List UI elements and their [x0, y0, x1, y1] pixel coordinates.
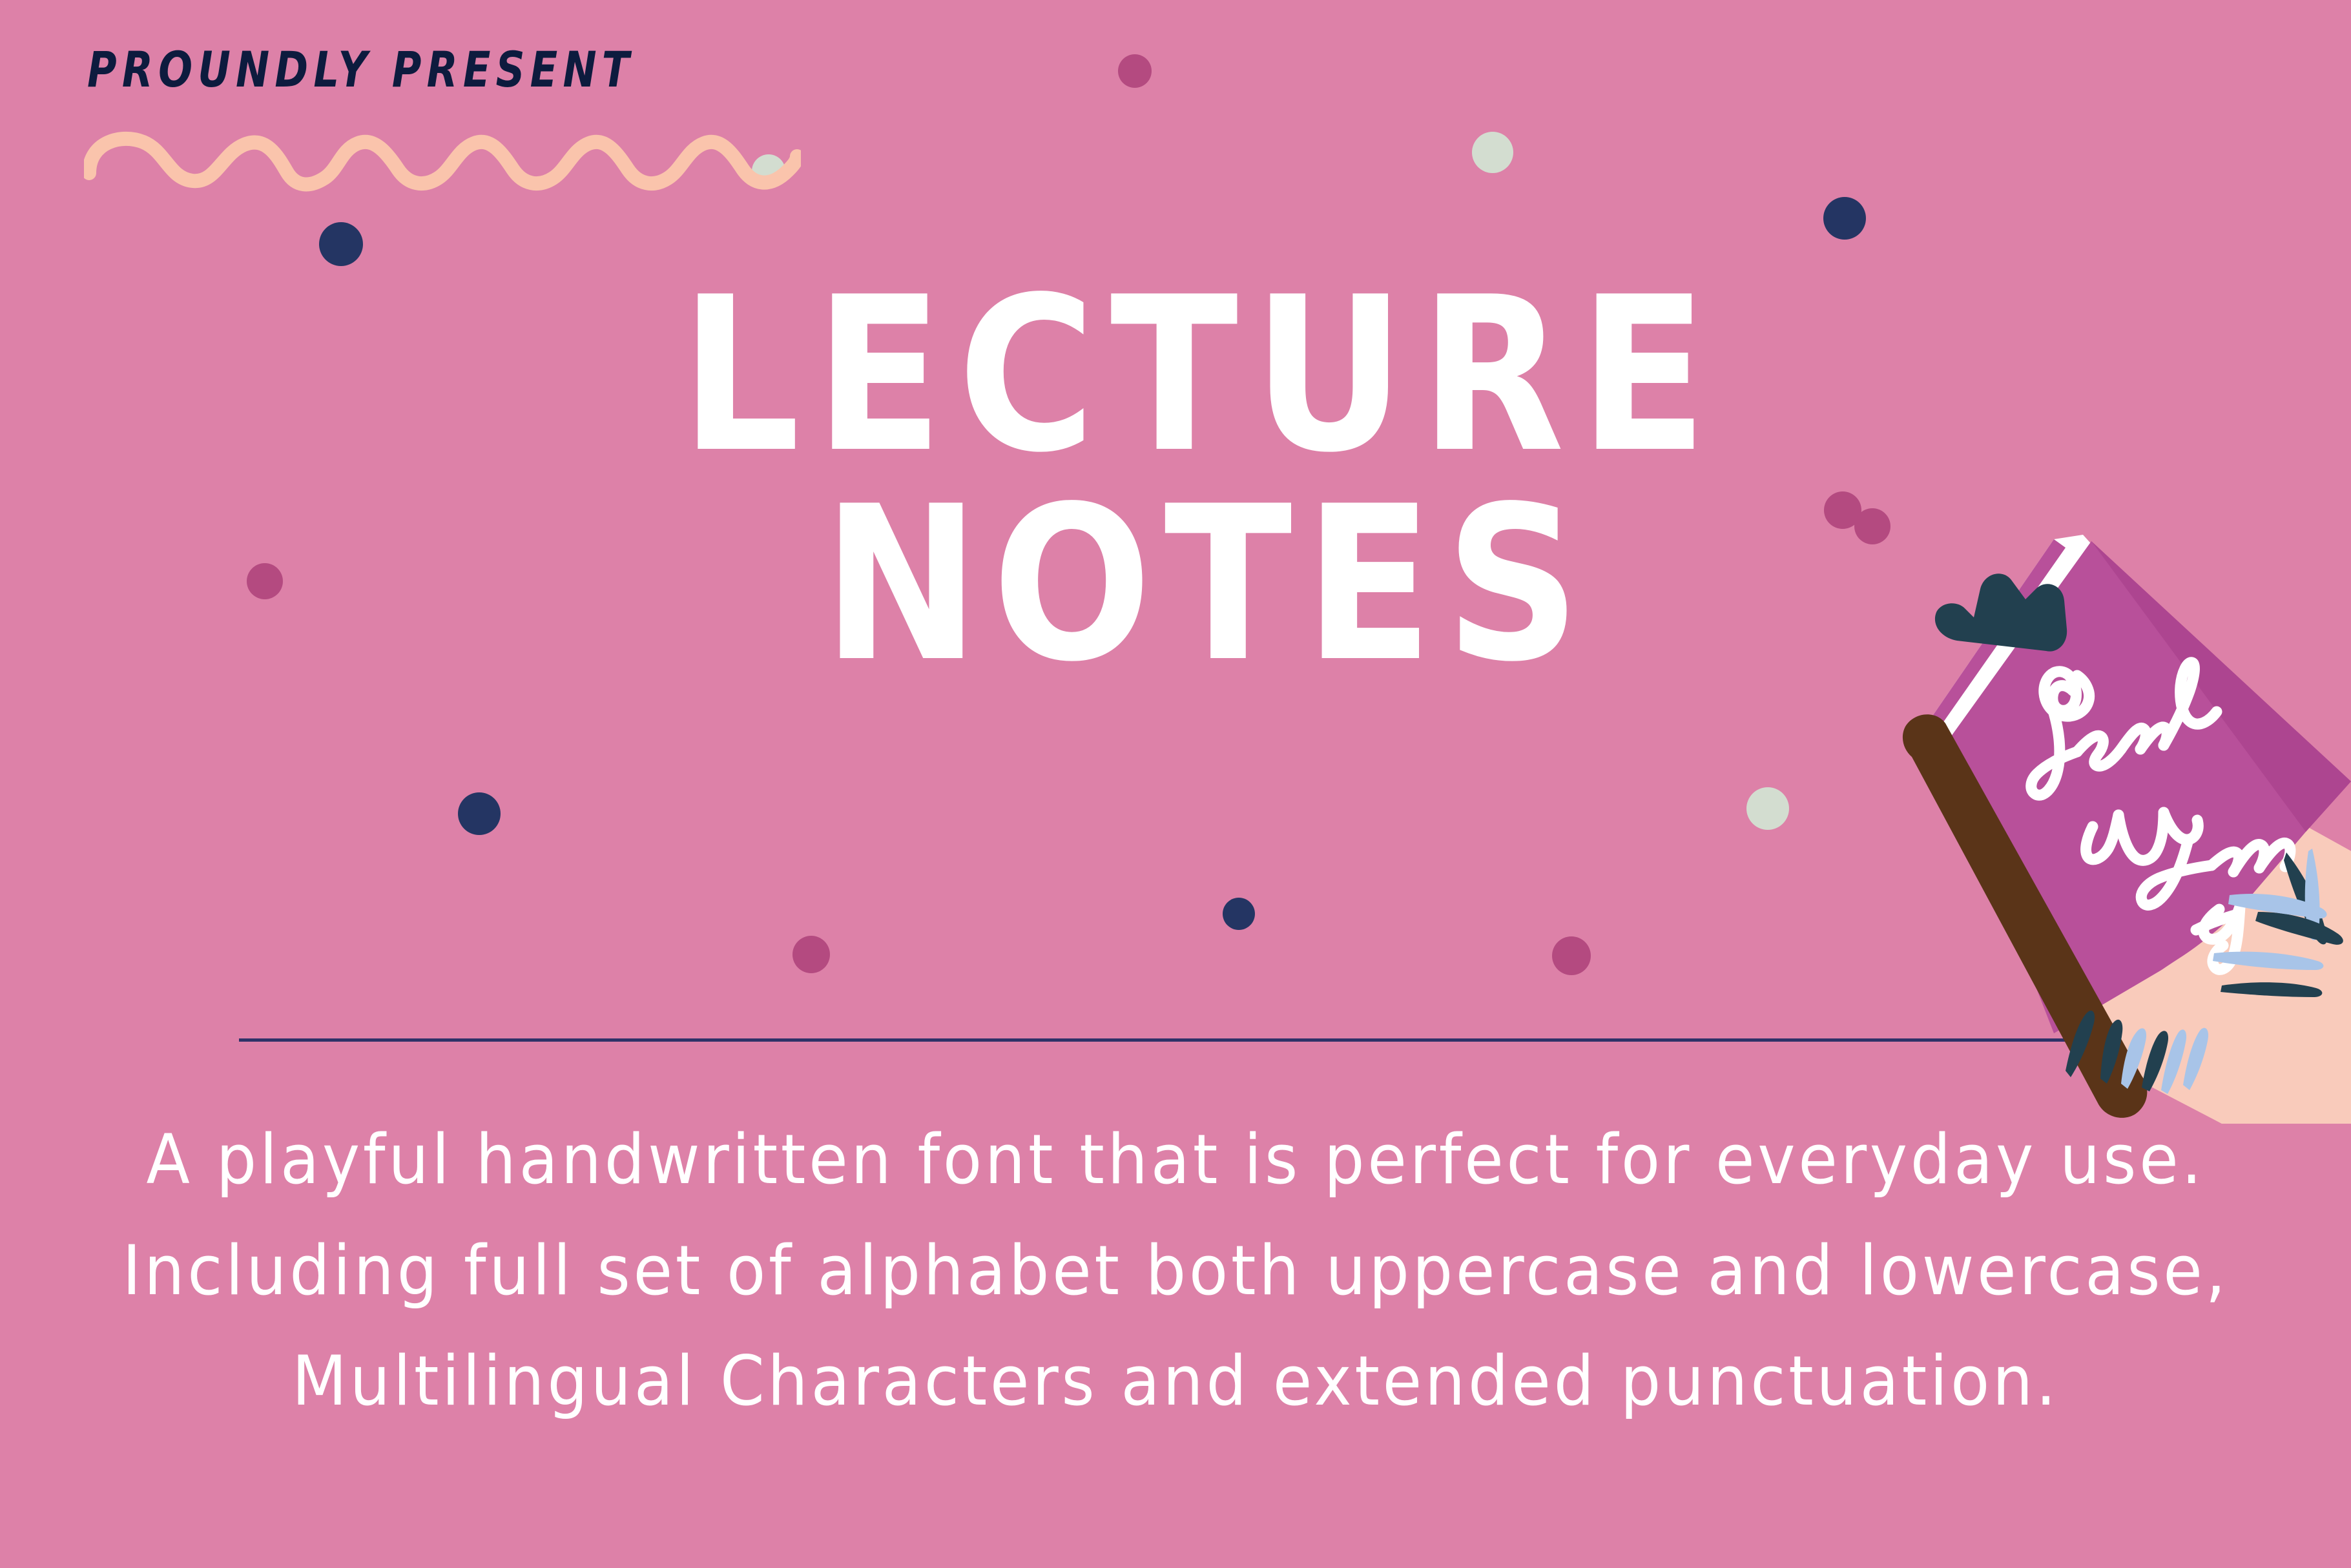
leaf-cluster-right — [2213, 849, 2343, 997]
dot-magenta-bottom — [1552, 936, 1591, 975]
dot-navy-left — [319, 222, 363, 266]
dot-sage-top — [1472, 132, 1513, 173]
body-line: Including full set of alphabet both uppe… — [82, 1215, 2268, 1326]
body-line: A playful handwritten font that is perfe… — [82, 1104, 2268, 1215]
book-cover-script — [2031, 663, 2290, 970]
title-block: LECTURE NOTES — [0, 278, 2351, 683]
eyebrow-label: PROUNDLY PRESENT — [87, 45, 776, 94]
dot-magenta-bot-left — [792, 936, 830, 973]
dot-magenta-top — [1118, 54, 1152, 88]
dot-navy-right — [1823, 197, 1866, 240]
header-block: PROUNDLY PRESENT — [87, 45, 927, 194]
dot-sage-bottom — [1746, 787, 1789, 830]
leaf-cluster-left — [2066, 1011, 2208, 1094]
page-title-line-1: LECTURE — [190, 278, 2213, 474]
book-page-front — [2073, 858, 2351, 1124]
poster-canvas: PROUNDLY PRESENT LECTURE NOTES A playful… — [0, 0, 2351, 1568]
divider-rule — [239, 1038, 2157, 1042]
body-copy-block: A playful handwritten font that is perfe… — [0, 1104, 2351, 1437]
body-line: Multilingual Characters and extended pun… — [82, 1326, 2268, 1437]
dot-navy-lower-left — [458, 792, 501, 835]
book-page-right — [2073, 801, 2351, 1124]
dot-navy-bottom — [1223, 898, 1255, 930]
page-title-line-2: NOTES — [202, 487, 2213, 683]
squiggle-underline-icon — [84, 116, 801, 194]
book-spine — [1903, 714, 2147, 1118]
